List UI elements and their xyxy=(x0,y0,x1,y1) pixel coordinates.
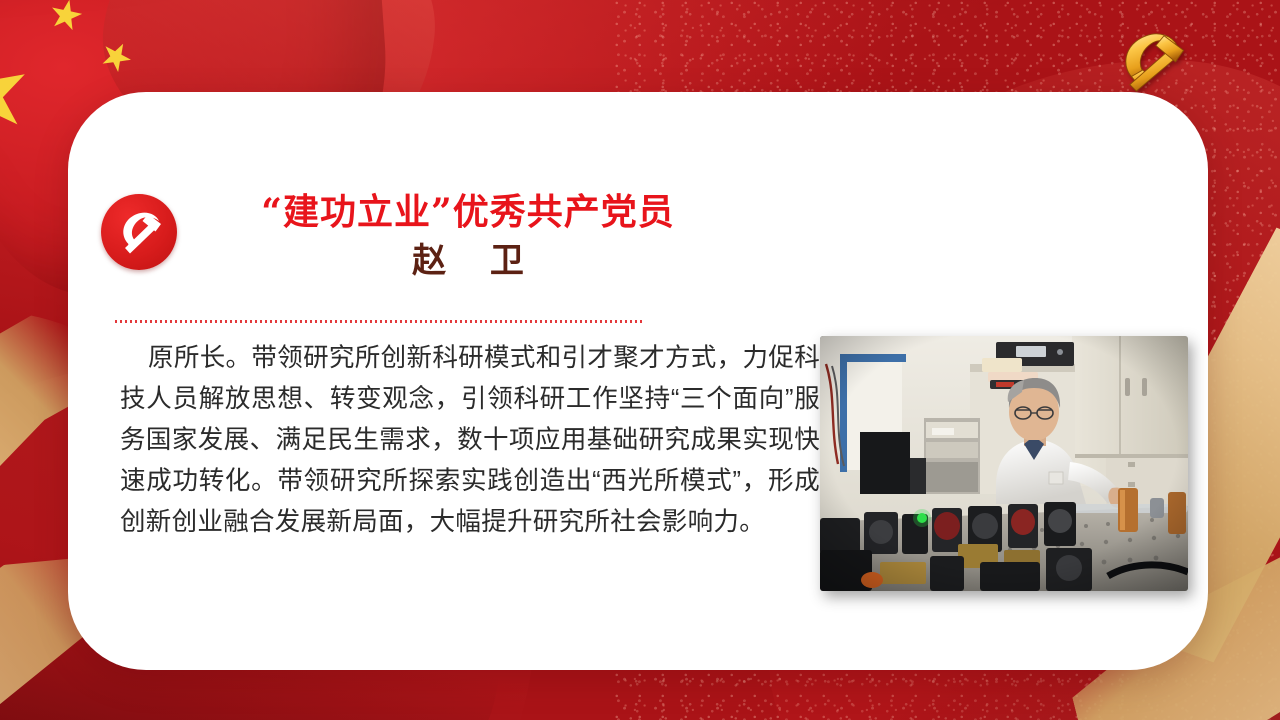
dotted-divider xyxy=(115,320,642,323)
person-name: 赵 卫 xyxy=(188,240,748,283)
flag-star-large-icon xyxy=(0,44,36,144)
scientist-photo xyxy=(820,336,1188,591)
party-emblem-gold-icon xyxy=(1108,26,1194,96)
flag-star-small-1-icon xyxy=(47,0,85,34)
biography-text: 原所长。带领研究所创新科研模式和引才聚才方式，力促科技人员解放思想、转变观念，引… xyxy=(120,338,820,543)
party-emblem-badge-icon xyxy=(101,194,177,270)
content-card: “建功立业”优秀共产党员 赵 卫 原所长。带领研究所创新科研模式和引才聚才方式，… xyxy=(68,92,1208,670)
slide-canvas: “建功立业”优秀共产党员 赵 卫 原所长。带领研究所创新科研模式和引才聚才方式，… xyxy=(0,0,1280,720)
page-title: “建功立业”优秀共产党员 xyxy=(188,192,748,234)
title-block: “建功立业”优秀共产党员 赵 卫 xyxy=(188,192,748,282)
